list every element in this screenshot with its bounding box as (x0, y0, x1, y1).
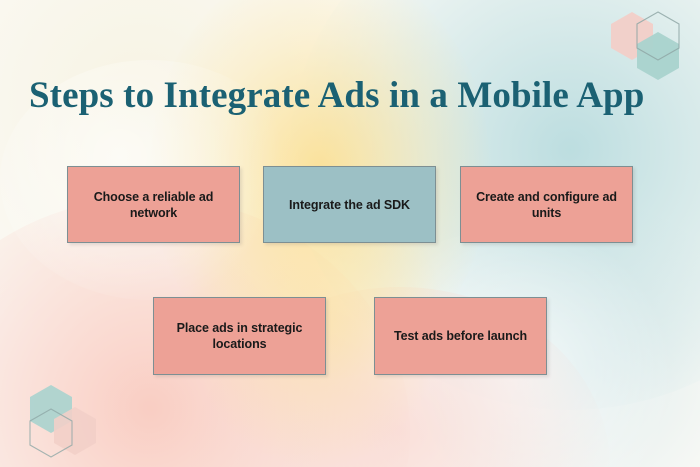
step-box-label: Place ads in strategic locations (166, 320, 313, 352)
step-box-2[interactable]: Integrate the ad SDK (263, 166, 436, 243)
step-box-label: Create and configure ad units (473, 189, 620, 221)
step-box-5[interactable]: Test ads before launch (374, 297, 547, 375)
step-box-label: Choose a reliable ad network (80, 189, 227, 221)
hexagon-cluster-svg (22, 381, 108, 463)
page-title: Steps to Integrate Ads in a Mobile App (29, 74, 644, 118)
step-box-3[interactable]: Create and configure ad units (460, 166, 633, 243)
step-box-1[interactable]: Choose a reliable ad network (67, 166, 240, 243)
step-box-label: Integrate the ad SDK (289, 197, 410, 213)
slide-canvas: Steps to Integrate Ads in a Mobile App C… (0, 0, 700, 467)
step-box-label: Test ads before launch (394, 328, 527, 344)
step-box-4[interactable]: Place ads in strategic locations (153, 297, 326, 375)
decoration-bottom-left (22, 381, 108, 463)
